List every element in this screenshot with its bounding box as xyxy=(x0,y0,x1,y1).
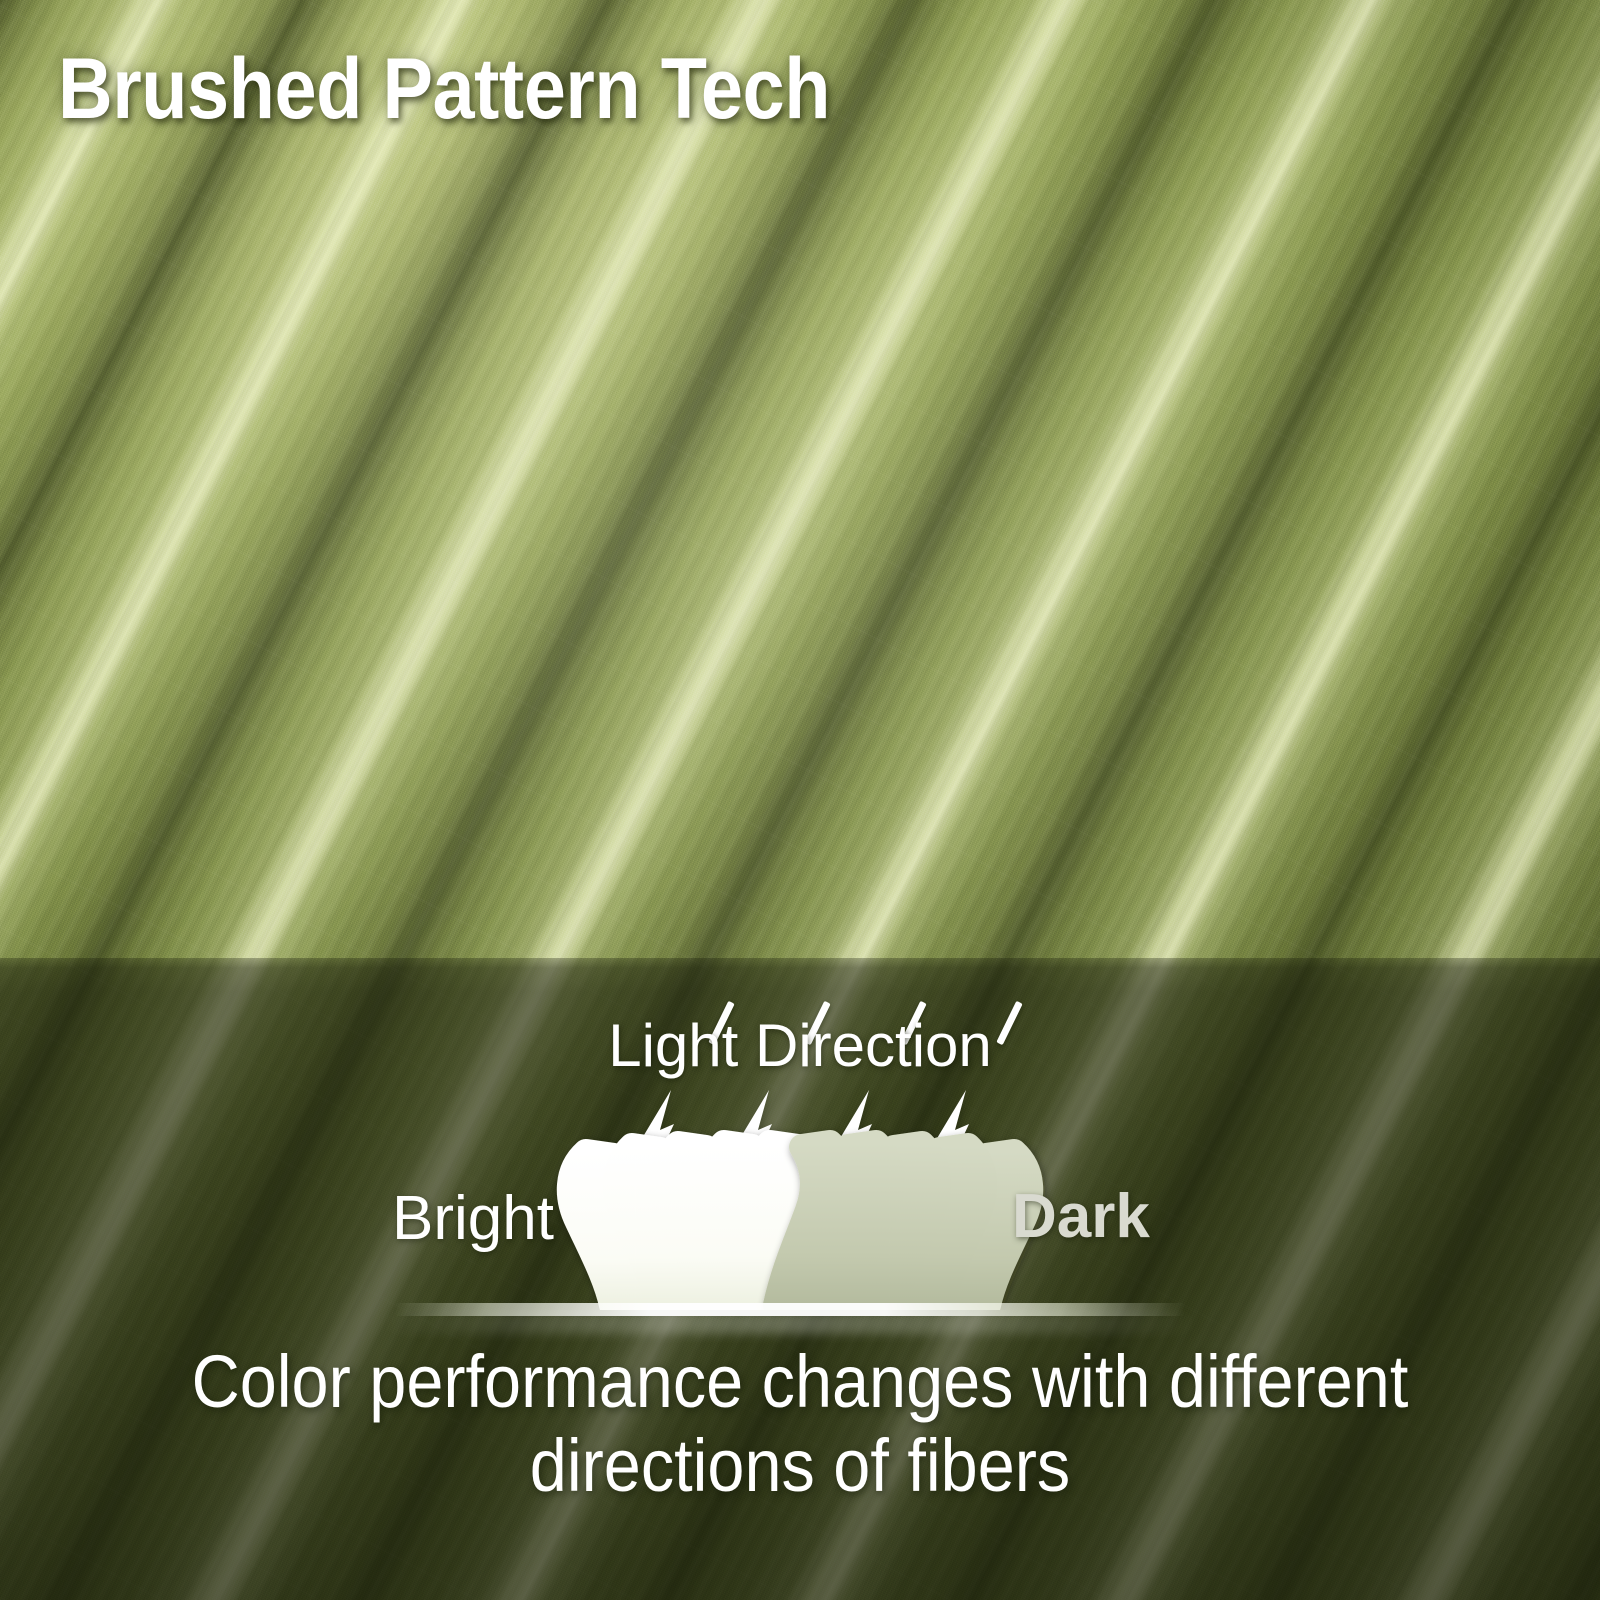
dark-label: Dark xyxy=(1012,1186,1150,1248)
product-infographic: Brushed Pattern Tech Light Direction xyxy=(0,0,1600,1600)
fiber-baseline xyxy=(395,1303,1185,1316)
page-title: Brushed Pattern Tech xyxy=(58,46,830,132)
fiber-strand-group xyxy=(0,960,1600,1310)
caption-line-1: Color performance changes with different xyxy=(80,1340,1520,1424)
dark-fiber-group xyxy=(776,1143,1030,1305)
caption-block: Color performance changes with different… xyxy=(0,1340,1600,1509)
fiber-direction-diagram: Light Direction xyxy=(0,960,1600,1310)
caption-line-2: directions of fibers xyxy=(80,1424,1520,1508)
bright-label: Bright xyxy=(392,1188,554,1250)
